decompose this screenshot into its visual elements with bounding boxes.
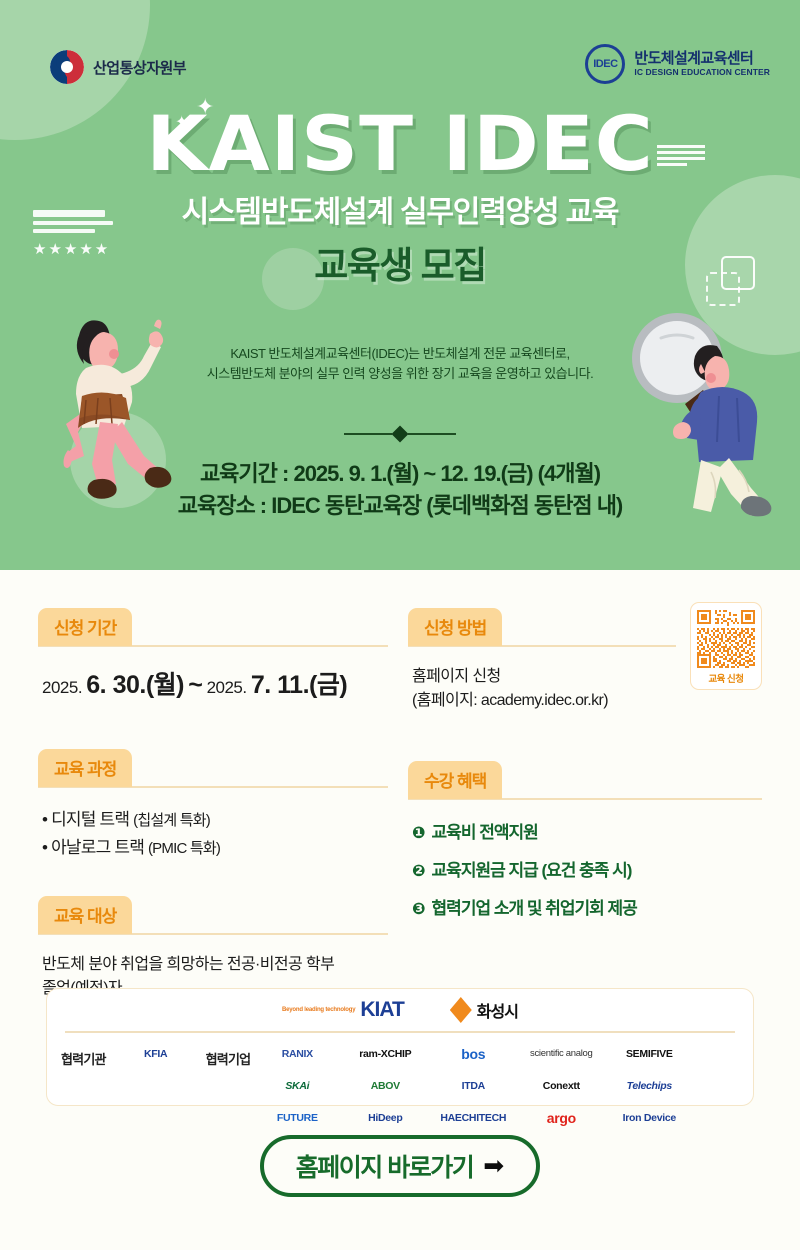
list-item: ❶ 교육비 전액지원 [412,818,758,843]
hero-info-block: 교육기간 : 2025. 9. 1.(월) ~ 12. 19.(금) (4개월)… [0,458,800,522]
apply-period-body: 2025. 6. 30.(월) ~ 2025. 7. 11.(금) [38,647,388,701]
training-period-duration: (4개월) [533,461,600,486]
course-note-1: (PMIC 특화) [148,840,220,857]
benefit-number-2: ❷ [412,861,425,881]
list-item: ❸ 협력기업 소개 및 취업기회 제공 [412,894,758,919]
partner-logo-argo: argo [524,1105,598,1131]
partner-logo-ramxchip: ram-XCHIP [348,1041,422,1067]
list-item: • 아날로그 트랙 (PMIC 특화) [42,834,384,862]
idec-logo: IDEC 반도체설계교육센터 IC DESIGN EDUCATION CENTE… [585,44,770,84]
idec-logo-text: 반도체설계교육센터 IC DESIGN EDUCATION CENTER [634,51,770,78]
training-period-value: 2025. 9. 1.(월) ~ 12. 19.(금) [293,461,532,486]
page-title: KAIST IDEC [0,108,800,181]
section-benefits: 수강 혜택 ❶ 교육비 전액지원 ❷ 교육지원금 지급 (요건 충족 시) [408,761,762,919]
qr-caption: 교육 신청 [697,671,755,685]
section-apply-method: 신청 방법 홈페이지 신청 (홈페이지: academy.idec.or.kr) [408,608,762,713]
course-name-0: 디지털 트랙 [51,810,129,829]
section-tab-course: 교육 과정 [38,749,132,787]
government-logo: 산업통상자원부 [50,50,186,84]
partner-logo-iron-device: Iron Device [612,1105,686,1131]
kiat-logo: Beyond leading technology KIAT [282,998,404,1022]
partner-logo-ranix: RANIX [260,1041,334,1067]
benefit-text-2: 교육지원금 지급 (요건 충족 시) [432,856,632,881]
section-course: 교육 과정 • 디지털 트랙 (칩설계 특화) • 아날로그 트랙 (PMIC … [38,749,388,862]
benefit-number-3: ❸ [412,899,425,919]
partner-logo-kfia: KFIA [116,1041,196,1067]
partner-logo-haechitech: HAECHITECH [436,1105,510,1131]
section-tab-apply-method: 신청 방법 [408,608,502,646]
partner-logo-bos: bos [436,1041,510,1067]
kiat-name: KIAT [360,998,403,1022]
kiat-tagline: Beyond leading technology [282,1007,355,1013]
list-item: • 디지털 트랙 (칩설계 특화) [42,806,384,834]
homepage-link-label: 홈페이지 바로가기 [296,1148,473,1184]
hwaseong-city-logo: 화성시 [450,997,518,1023]
hero-banner: ★★★★★ ✦ ✦ 산업통상자원부 IDEC 반도체설계교육센터 IC DESI… [0,0,800,570]
apply-start-date: 6. 30.(월) [86,671,184,699]
hero-description-line-2: 시스템반도체 분야의 실무 인력 양성을 위한 장기 교육을 운영하고 있습니다… [0,364,800,384]
partner-logo-semifive: SEMIFIVE [612,1041,686,1067]
benefits-body: ❶ 교육비 전액지원 ❷ 교육지원금 지급 (요건 충족 시) ❸ 협력기업 소… [408,800,762,919]
hero-description-line-1: KAIST 반도체설계교육센터(IDEC)는 반도체설계 전문 교육센터로, [0,344,800,364]
idec-mark-text: IDEC [593,58,617,70]
training-place-value: IDEC 동탄교육장 [271,493,421,518]
idec-name-korean: 반도체설계교육센터 [634,51,770,68]
apply-period-value: 2025. 6. 30.(월) ~ 2025. 7. 11.(금) [42,665,384,701]
course-body: • 디지털 트랙 (칩설계 특화) • 아날로그 트랙 (PMIC 특화) [38,788,388,862]
qr-code-card[interactable]: 교육 신청 [690,602,762,690]
idec-name-english: IC DESIGN EDUCATION CENTER [634,67,770,77]
apply-method-line-2: (홈페이지: academy.idec.or.kr) [412,689,758,713]
company-logo-cells: RANIX ram-XCHIP bos scientific analog SE… [260,1041,739,1131]
section-tab-benefits: 수강 혜택 [408,761,502,799]
partners-panel: Beyond leading technology KIAT 화성시 협력기관 … [46,988,754,1106]
section-tab-apply-period: 신청 기간 [38,608,132,646]
benefit-text-1: 교육비 전액지원 [432,818,538,843]
diamond-icon [392,426,409,443]
left-column: 신청 기간 2025. 6. 30.(월) ~ 2025. 7. 11.(금) … [38,608,388,1005]
partner-logo-telechips: Telechips [612,1073,686,1099]
apply-start-year: 2025. [42,678,82,697]
section-target: 교육 대상 반도체 분야 취업을 희망하는 전공·비전공 학부 졸업(예정)자 [38,896,388,1001]
hero-description: KAIST 반도체설계교육센터(IDEC)는 반도체설계 전문 교육센터로, 시… [0,344,800,384]
training-place-row: 교육장소 : IDEC 동탄교육장 (롯데백화점 동탄점 내) [0,490,800,522]
partner-company-label: 협력기업 [206,1041,251,1068]
partner-logo-future: FUTURE [260,1105,334,1131]
sponsor-logos-row: Beyond leading technology KIAT 화성시 [47,989,753,1031]
divider-ornament [0,428,800,440]
section-apply-period: 신청 기간 2025. 6. 30.(월) ~ 2025. 7. 11.(금) [38,608,388,701]
benefit-number-1: ❶ [412,823,425,843]
partner-logo-conextt: Conextt [524,1073,598,1099]
government-name: 산업통상자원부 [93,57,186,78]
partner-logo-skai: SKAi [260,1073,334,1099]
list-item: ❷ 교육지원금 지급 (요건 충족 시) [412,856,758,881]
partner-org-label: 협력기관 [61,1041,106,1068]
benefit-text-3: 협력기업 소개 및 취업기회 제공 [432,894,637,919]
korea-government-emblem-icon [50,50,84,84]
homepage-link-button[interactable]: 홈페이지 바로가기 ➡ [260,1135,540,1197]
partner-logo-scientific-analog: scientific analog [524,1041,598,1067]
training-place-label: 교육장소 : [178,493,272,518]
apply-end-year: 2025. [207,678,247,697]
training-period-row: 교육기간 : 2025. 9. 1.(월) ~ 12. 19.(금) (4개월) [0,458,800,490]
section-tab-target: 교육 대상 [38,896,132,934]
hwaseong-name: 화성시 [477,998,518,1022]
hero-text-block: KAIST IDEC 시스템반도체설계 실무인력양성 교육 교육생 모집 [0,108,800,289]
hero-subtitle: 시스템반도체설계 실무인력양성 교육 [0,187,800,231]
idec-seal-icon: IDEC [585,44,625,84]
date-range-tilde: ~ [188,671,202,699]
course-note-0: (칩설계 특화) [133,812,210,829]
hwaseong-mark-icon [450,997,472,1023]
arrow-right-icon: ➡ [483,1154,504,1179]
partner-logo-abov: ABOV [348,1073,422,1099]
target-line-1: 반도체 분야 취업을 희망하는 전공·비전공 학부 [42,953,384,977]
training-place-detail: (롯데백화점 동탄점 내) [421,493,622,518]
partner-logo-itda: ITDA [436,1073,510,1099]
partner-logos-grid: 협력기관 KFIA 협력기업 RANIX ram-XCHIP bos scien… [47,1033,753,1131]
poster-root: ★★★★★ ✦ ✦ 산업통상자원부 IDEC 반도체설계교육센터 IC DESI… [0,0,800,1250]
course-name-1: 아날로그 트랙 [51,838,144,857]
apply-end-date: 7. 11.(금) [251,671,347,699]
course-list: • 디지털 트랙 (칩설계 특화) • 아날로그 트랙 (PMIC 특화) [42,806,384,862]
partner-logo-hideep: HiDeep [348,1105,422,1131]
training-period-label: 교육기간 : [200,461,294,486]
qr-code-icon[interactable] [697,610,755,668]
benefits-list: ❶ 교육비 전액지원 ❷ 교육지원금 지급 (요건 충족 시) ❸ 협력기업 소… [412,818,758,919]
right-column: 신청 방법 홈페이지 신청 (홈페이지: academy.idec.or.kr) [408,608,762,932]
hero-headline: 교육생 모집 [0,235,800,289]
